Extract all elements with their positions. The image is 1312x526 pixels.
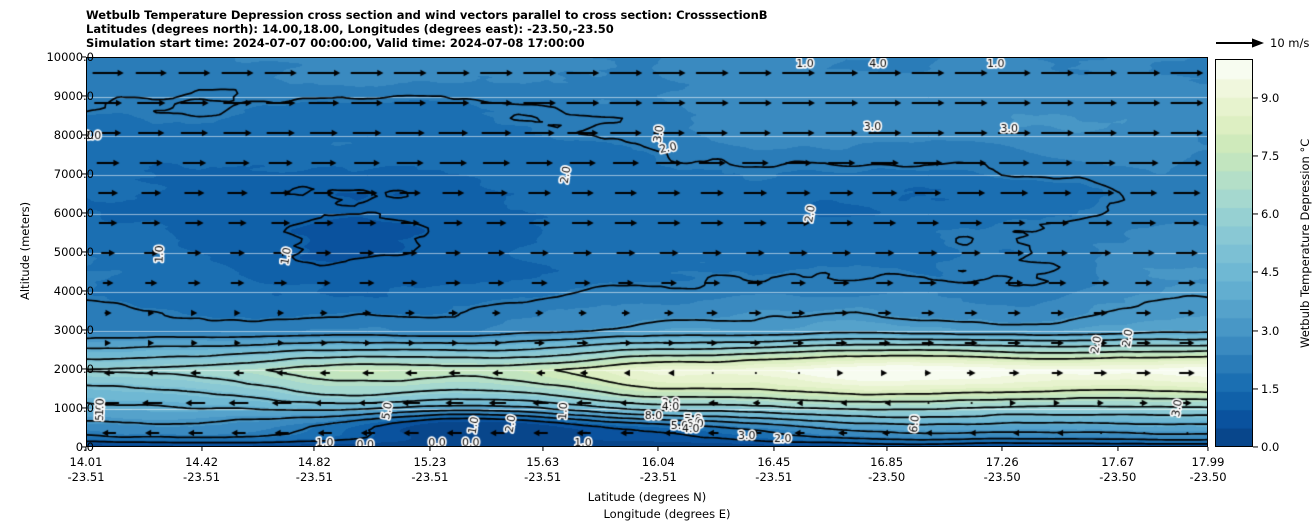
colorbar-tick-mark [1253, 330, 1258, 331]
colorbar-tick-mark [1253, 388, 1258, 389]
x-axis-label-longitude: Longitude (degrees E) [603, 507, 730, 521]
colorbar-tick-label: 4.5 [1261, 265, 1279, 279]
x-tick-longitude: -23.51 [411, 470, 448, 485]
y-tick-label: 4000.0 [54, 284, 94, 298]
x-tick-label: 17.99-23.50 [1189, 455, 1226, 485]
wind-key-label: 10 m/s [1270, 36, 1309, 50]
y-tick-label: 1000.0 [54, 401, 94, 415]
wetbulb-cross-section-figure: Wetbulb Temperature Depression cross sec… [0, 0, 1312, 526]
x-tick-longitude: -23.50 [868, 470, 905, 485]
x-tick-mark [1002, 447, 1003, 451]
colorbar-axis-label: Wetbulb Temperature Depression °C [1298, 139, 1312, 348]
x-tick-mark [201, 447, 202, 451]
x-tick-latitude: 14.42 [183, 455, 220, 470]
x-tick-label: 14.01-23.51 [67, 455, 104, 485]
x-tick-mark [85, 447, 86, 451]
title-line-3: Simulation start time: 2024-07-07 00:00:… [86, 36, 768, 50]
x-tick-latitude: 17.26 [984, 455, 1021, 470]
y-tick-mark [82, 56, 86, 57]
x-tick-label: 14.42-23.51 [183, 455, 220, 485]
x-tick-label: 16.45-23.51 [755, 455, 792, 485]
y-tick-mark [82, 407, 86, 408]
y-tick-label: 8000.0 [54, 128, 94, 142]
x-tick-longitude: -23.51 [524, 470, 561, 485]
contour-and-wind-overlay [87, 58, 1208, 447]
title-line-2: Latitudes (degrees north): 14.00,18.00, … [86, 22, 768, 36]
x-tick-label: 15.23-23.51 [411, 455, 448, 485]
x-axis-label-latitude: Latitude (degrees N) [588, 490, 707, 504]
y-tick-label: 9000.0 [54, 89, 94, 103]
y-tick-label: 5000.0 [54, 245, 94, 259]
x-tick-longitude: -23.51 [296, 470, 333, 485]
x-tick-longitude: -23.51 [67, 470, 104, 485]
x-tick-mark [314, 447, 315, 451]
x-tick-latitude: 17.67 [1099, 455, 1136, 470]
colorbar-tick-label: 9.0 [1261, 91, 1279, 105]
colorbar-tick-label: 1.5 [1261, 382, 1279, 396]
x-tick-label: 16.85-23.50 [868, 455, 905, 485]
cross-section-plot-area [86, 57, 1208, 447]
colorbar-tick-label: 7.5 [1261, 149, 1279, 163]
y-tick-mark [82, 368, 86, 369]
x-tick-latitude: 16.04 [640, 455, 677, 470]
y-tick-mark [82, 251, 86, 252]
colorbar-tick-mark [1253, 272, 1258, 273]
y-tick-mark [82, 173, 86, 174]
colorbar-tick-mark [1253, 155, 1258, 156]
y-tick-label: 7000.0 [54, 167, 94, 181]
x-tick-mark [1117, 447, 1118, 451]
y-tick-label: 2000.0 [54, 362, 94, 376]
x-tick-latitude: 14.82 [296, 455, 333, 470]
x-tick-longitude: -23.50 [1189, 470, 1226, 485]
x-tick-mark [542, 447, 543, 451]
x-tick-label: 17.26-23.50 [984, 455, 1021, 485]
y-tick-label: 10000.0 [46, 50, 94, 64]
x-tick-longitude: -23.51 [755, 470, 792, 485]
colorbar-tick-mark [1253, 446, 1258, 447]
x-tick-latitude: 14.01 [67, 455, 104, 470]
x-tick-latitude: 16.85 [868, 455, 905, 470]
x-tick-label: 14.82-23.51 [296, 455, 333, 485]
y-tick-label: 6000.0 [54, 206, 94, 220]
x-tick-mark [1207, 447, 1208, 451]
x-tick-longitude: -23.50 [1099, 470, 1136, 485]
x-tick-label: 15.63-23.51 [524, 455, 561, 485]
colorbar-tick-label: 6.0 [1261, 207, 1279, 221]
arrow-right-icon [1214, 36, 1266, 50]
colorbar-tick-mark [1253, 97, 1258, 98]
x-tick-longitude: -23.51 [640, 470, 677, 485]
x-tick-latitude: 15.63 [524, 455, 561, 470]
y-tick-mark [82, 134, 86, 135]
colorbar-tick-label: 0.0 [1261, 440, 1279, 454]
colorbar-tick-label: 3.0 [1261, 324, 1279, 338]
title-line-1: Wetbulb Temperature Depression cross sec… [86, 8, 768, 22]
x-tick-label: 17.67-23.50 [1099, 455, 1136, 485]
figure-title: Wetbulb Temperature Depression cross sec… [86, 8, 768, 51]
x-tick-latitude: 16.45 [755, 455, 792, 470]
y-tick-mark [82, 212, 86, 213]
x-tick-latitude: 15.23 [411, 455, 448, 470]
x-tick-mark [773, 447, 774, 451]
wind-vector-key: 10 m/s [1214, 34, 1312, 54]
x-tick-mark [658, 447, 659, 451]
y-axis-label: Altitude (meters) [18, 202, 32, 300]
x-tick-longitude: -23.51 [183, 470, 220, 485]
y-tick-mark [82, 329, 86, 330]
y-tick-label: 3000.0 [54, 323, 94, 337]
y-tick-mark [82, 290, 86, 291]
y-tick-mark [82, 95, 86, 96]
x-tick-mark [429, 447, 430, 451]
colorbar [1215, 59, 1253, 447]
colorbar-gradient [1216, 60, 1252, 446]
x-tick-latitude: 17.99 [1189, 455, 1226, 470]
x-tick-label: 16.04-23.51 [640, 455, 677, 485]
x-tick-mark [886, 447, 887, 451]
x-tick-longitude: -23.50 [984, 470, 1021, 485]
colorbar-tick-mark [1253, 214, 1258, 215]
